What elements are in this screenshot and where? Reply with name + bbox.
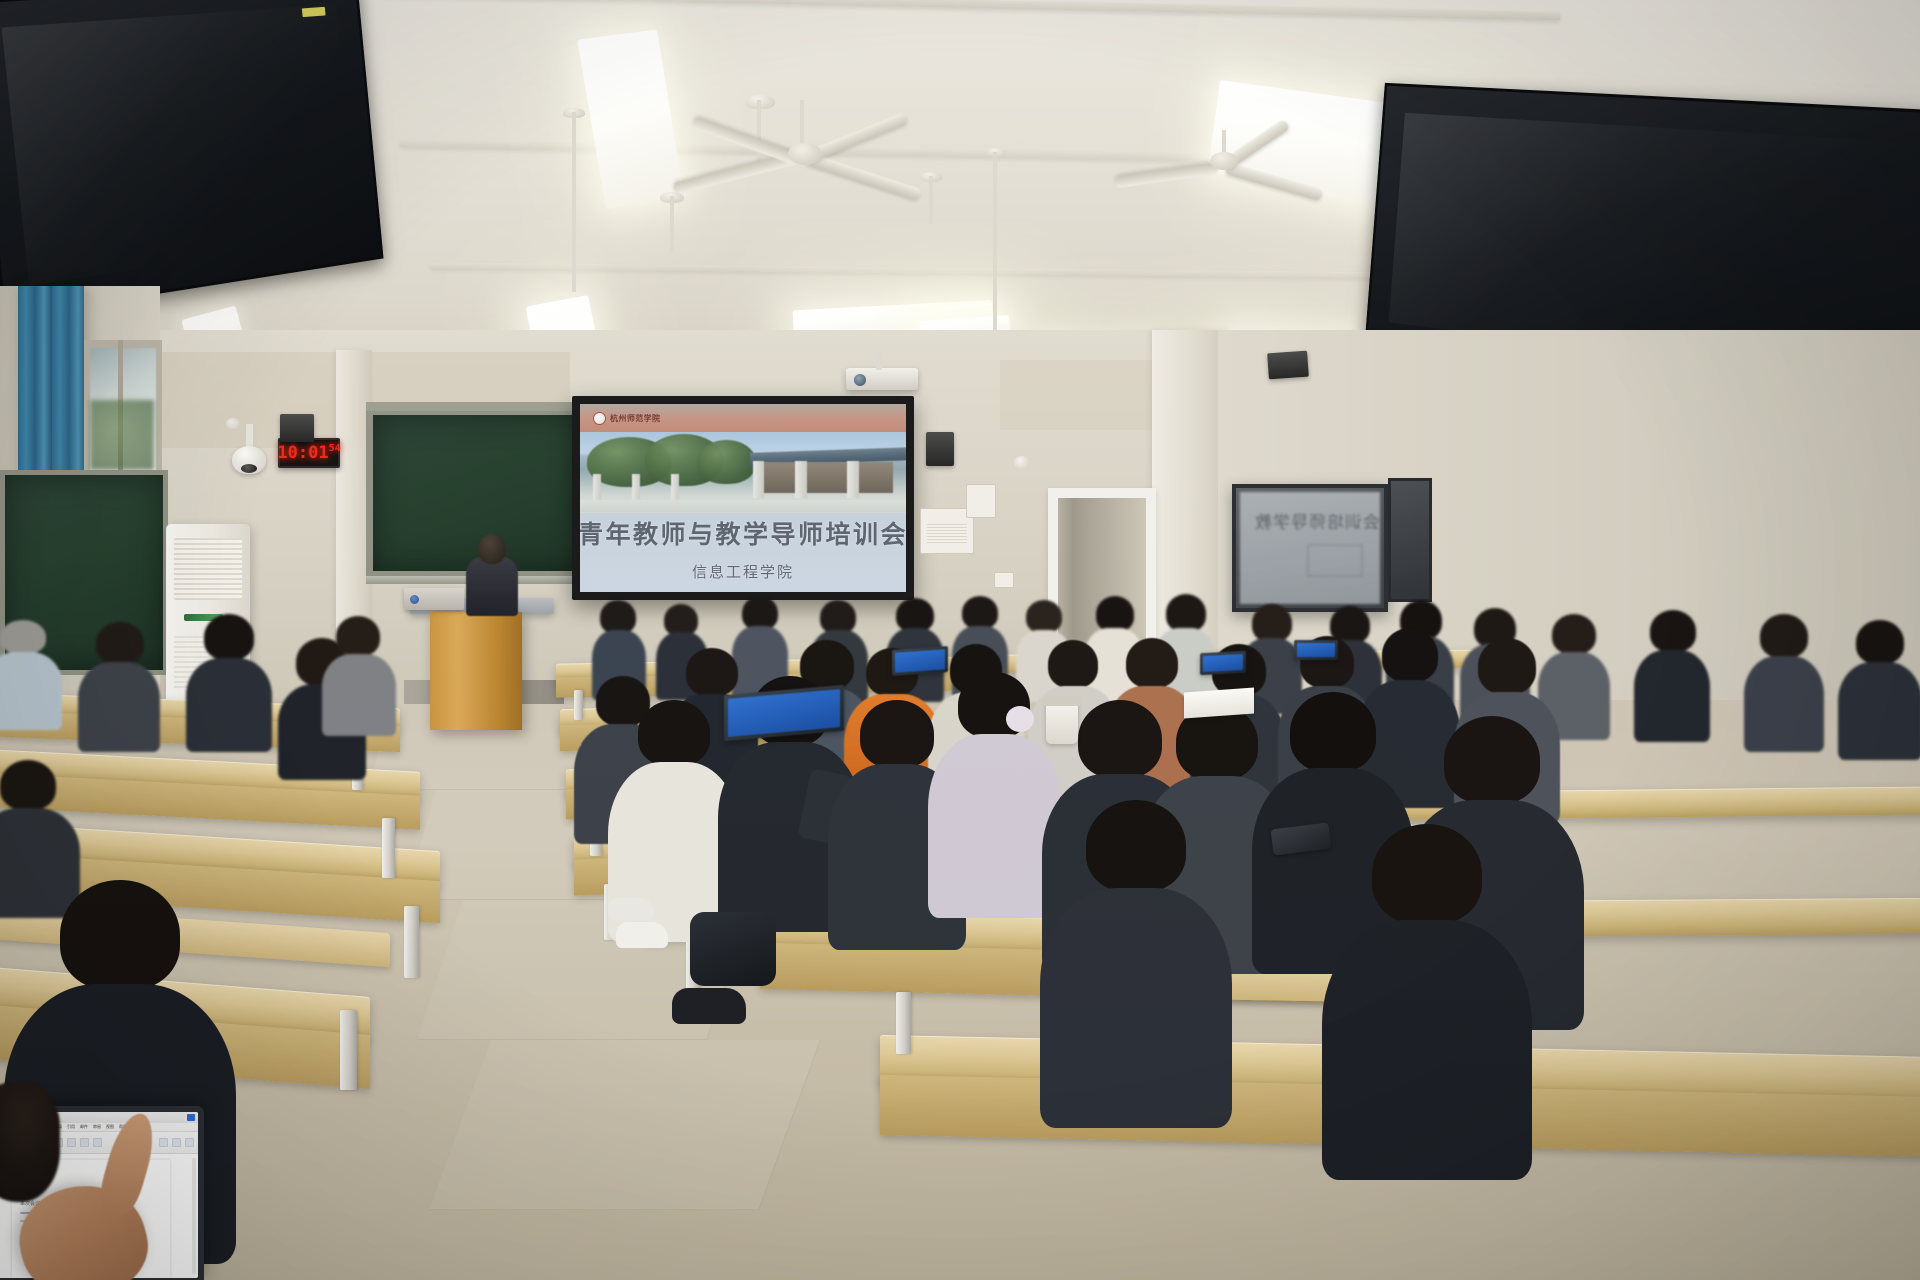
gate-column bbox=[593, 474, 601, 500]
person-torso bbox=[1322, 920, 1532, 1180]
ceiling-fan-rod bbox=[800, 100, 804, 148]
person-hair bbox=[686, 648, 738, 696]
find-icon[interactable] bbox=[93, 1138, 102, 1147]
monitor-reflected-title: 会训培师导学教 bbox=[1254, 508, 1380, 533]
wall-speaker bbox=[926, 432, 954, 466]
desk-leg bbox=[340, 1010, 357, 1090]
shoe bbox=[672, 988, 746, 1024]
slide-title: 青年教师与教学导师培训会 bbox=[580, 523, 906, 548]
person-hair bbox=[962, 596, 998, 629]
clock-seconds: 54 bbox=[329, 443, 341, 454]
tree-icon bbox=[697, 440, 756, 484]
comments-icon[interactable] bbox=[172, 1138, 181, 1147]
lecture-hall-photo: 杭州师范学院 青年教师与教学导师培训会 信息工程学院 10:0154 bbox=[0, 0, 1920, 1280]
person-torso bbox=[1838, 662, 1920, 760]
gate-column bbox=[847, 461, 858, 498]
person-hair bbox=[1252, 604, 1292, 642]
desk-leg bbox=[404, 906, 419, 978]
camera-lens-icon bbox=[241, 464, 257, 473]
person-hair bbox=[204, 614, 254, 660]
person-hair bbox=[742, 596, 778, 630]
person-hair bbox=[1096, 596, 1134, 632]
tv-glare bbox=[1, 4, 358, 287]
pendant-rod bbox=[929, 176, 933, 224]
person-hair bbox=[638, 700, 710, 766]
person-torso bbox=[1040, 888, 1232, 1128]
share-icon[interactable] bbox=[159, 1138, 168, 1147]
person-hair bbox=[96, 622, 144, 664]
slide-text-block: 青年教师与教学导师培训会 信息工程学院 bbox=[580, 513, 906, 592]
ceiling-fan-hub bbox=[788, 143, 822, 165]
spacing-icon[interactable] bbox=[80, 1138, 89, 1147]
editing-icon[interactable] bbox=[185, 1138, 194, 1147]
control-panel-grill bbox=[927, 524, 967, 542]
person-hair bbox=[1026, 600, 1062, 633]
shoe bbox=[616, 922, 668, 948]
gate-column bbox=[753, 461, 764, 498]
person-hair bbox=[1382, 628, 1438, 682]
clock-time: 10:0154 bbox=[277, 443, 340, 463]
person-hair bbox=[1086, 800, 1186, 892]
gate-structure bbox=[763, 462, 893, 493]
desk-leg bbox=[382, 818, 395, 878]
person-hair bbox=[860, 700, 934, 768]
laptop-screen bbox=[728, 689, 840, 737]
person-hair bbox=[1048, 640, 1098, 688]
university-logo-icon bbox=[593, 412, 606, 425]
pendant-rod bbox=[670, 196, 674, 252]
ribbon-tab-mailings[interactable]: 邮件 bbox=[80, 1124, 88, 1130]
desk-leg bbox=[896, 992, 911, 1054]
person-hair bbox=[600, 600, 636, 634]
gate-column bbox=[795, 461, 806, 498]
wall-speaker bbox=[280, 414, 314, 442]
slide-subtitle: 信息工程学院 bbox=[692, 561, 794, 582]
presenter bbox=[466, 556, 518, 616]
bag bbox=[690, 912, 776, 986]
person-hair bbox=[1126, 638, 1178, 688]
person-torso bbox=[186, 658, 272, 752]
laptop-signin-button[interactable] bbox=[187, 1114, 195, 1121]
window-foliage bbox=[90, 400, 154, 470]
slide-header-band: 杭州师范学院 bbox=[580, 404, 906, 432]
person-hair bbox=[1372, 824, 1482, 924]
paper-sheet bbox=[1184, 688, 1254, 719]
wall-outlet bbox=[994, 572, 1014, 588]
audience-laptop[interactable] bbox=[1294, 640, 1338, 660]
person-hair bbox=[1760, 614, 1808, 658]
person-torso bbox=[322, 654, 396, 736]
wall-monitor-right: 会训培师导学教 bbox=[1232, 484, 1388, 612]
campus-plaza bbox=[580, 500, 906, 513]
gate-column bbox=[671, 474, 679, 500]
monitor-reflected-sub bbox=[1307, 544, 1363, 578]
laptop-screen bbox=[1203, 654, 1243, 672]
ac-vent-grill bbox=[174, 538, 241, 600]
computer-power-icon[interactable] bbox=[410, 595, 419, 604]
wall-monitor-right-far bbox=[1388, 478, 1432, 602]
pendant-rod bbox=[993, 152, 997, 332]
projection-screen: 杭州师范学院 青年教师与教学导师培训会 信息工程学院 bbox=[580, 404, 906, 592]
slide-org-name: 杭州师范学院 bbox=[610, 413, 660, 424]
person-hair bbox=[60, 880, 180, 990]
laptop-screen bbox=[895, 649, 945, 672]
person-hair bbox=[1290, 692, 1376, 772]
desk-leg bbox=[574, 690, 583, 720]
wall-control-panel bbox=[966, 484, 996, 518]
person-torso bbox=[78, 662, 160, 752]
pendant-rod bbox=[572, 112, 576, 292]
person-hair bbox=[0, 760, 56, 810]
person-hair bbox=[1078, 700, 1162, 778]
projector-lens-icon bbox=[854, 374, 866, 386]
smoke-detector-icon bbox=[1014, 456, 1030, 469]
ceiling-fan-hub bbox=[1210, 152, 1238, 170]
ribbon-tab-references[interactable]: 引用 bbox=[67, 1124, 75, 1130]
cup-lid bbox=[1042, 696, 1082, 706]
lectern bbox=[430, 612, 522, 730]
person-torso bbox=[1634, 650, 1710, 742]
person-hair bbox=[820, 600, 856, 634]
person-hair bbox=[1650, 610, 1696, 652]
person-hair bbox=[1552, 614, 1596, 654]
person-hair bbox=[896, 598, 934, 632]
person-torso bbox=[0, 652, 62, 730]
ribbon-tab-review[interactable]: 审阅 bbox=[93, 1124, 101, 1130]
person-torso bbox=[1744, 656, 1824, 752]
person-hair bbox=[1478, 638, 1536, 694]
monitor-reflection: 会训培师导学教 bbox=[1240, 492, 1380, 604]
shoe bbox=[608, 898, 654, 920]
person-hair bbox=[1856, 620, 1904, 664]
gate-column bbox=[632, 474, 640, 500]
floor-tile bbox=[429, 1040, 821, 1210]
person-hair bbox=[1444, 716, 1540, 804]
projector-mount bbox=[876, 352, 882, 370]
presenter-head bbox=[478, 534, 506, 564]
slide-campus-photo bbox=[580, 432, 906, 513]
person-hair-tie bbox=[1006, 706, 1034, 732]
laptop-scrollbar[interactable] bbox=[192, 1158, 196, 1274]
person-torso bbox=[0, 808, 80, 918]
person-hair bbox=[1166, 594, 1206, 632]
audience-laptop[interactable] bbox=[892, 646, 948, 676]
person-hair bbox=[0, 620, 46, 654]
styles-icon[interactable] bbox=[67, 1138, 76, 1147]
podium-computer bbox=[404, 588, 464, 610]
audience-laptop[interactable] bbox=[1200, 651, 1246, 675]
digital-clock: 10:0154 bbox=[278, 438, 340, 468]
ribbon-tab-view[interactable]: 视图 bbox=[106, 1124, 114, 1130]
laptop-screen bbox=[1297, 643, 1335, 657]
smoke-detector-icon bbox=[226, 418, 240, 429]
wall-speaker bbox=[1267, 351, 1309, 380]
person-hair bbox=[336, 616, 380, 656]
paper-cup bbox=[1046, 700, 1078, 744]
